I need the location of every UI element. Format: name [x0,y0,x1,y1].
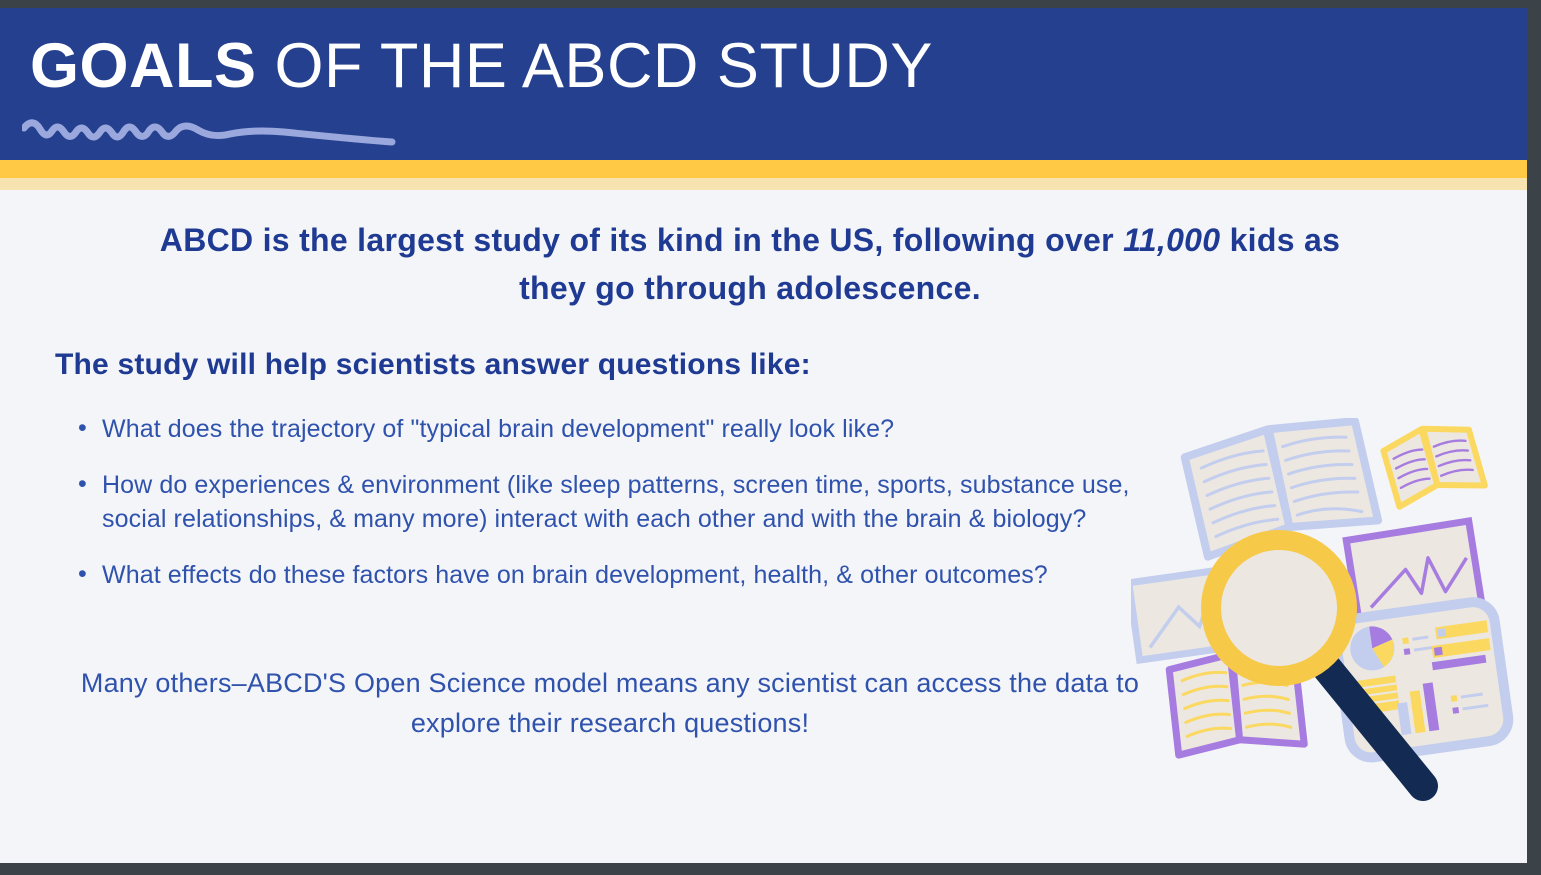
list-item: How do experiences & environment (like s… [72,468,1132,536]
squiggle-underline-icon [22,116,402,150]
questions-list: What does the trajectory of "typical bra… [72,412,1132,614]
screenshot-frame: GOALS OF THE ABCD STUDY ABCD is the larg… [0,0,1541,875]
pale-gold-accent-stripe [0,178,1527,190]
lede-part-one: ABCD is the largest study of its kind in… [160,222,1123,258]
list-item: What does the trajectory of "typical bra… [72,412,1132,446]
slide-header: GOALS OF THE ABCD STUDY [0,8,1527,160]
lede-statement: ABCD is the largest study of its kind in… [150,216,1350,312]
lede-participant-count: 11,000 [1123,222,1220,258]
section-subheading: The study will help scientists answer qu… [55,348,811,382]
page-title-emphasis: GOALS [30,31,257,101]
magnifier-lens [1211,540,1347,676]
dashboard-card [1333,599,1511,760]
slide-body: ABCD is the largest study of its kind in… [0,190,1527,863]
page-title-rest: OF THE ABCD STUDY [257,31,933,101]
page-title: GOALS OF THE ABCD STUDY [30,30,933,102]
list-item: What effects do these factors have on br… [72,558,1132,592]
closing-statement: Many others–ABCD'S Open Science model me… [80,663,1140,743]
gold-accent-stripe [0,160,1527,178]
open-book-yellow-small [1381,418,1485,507]
research-illustration [1131,418,1521,818]
slide: GOALS OF THE ABCD STUDY ABCD is the larg… [0,8,1527,863]
